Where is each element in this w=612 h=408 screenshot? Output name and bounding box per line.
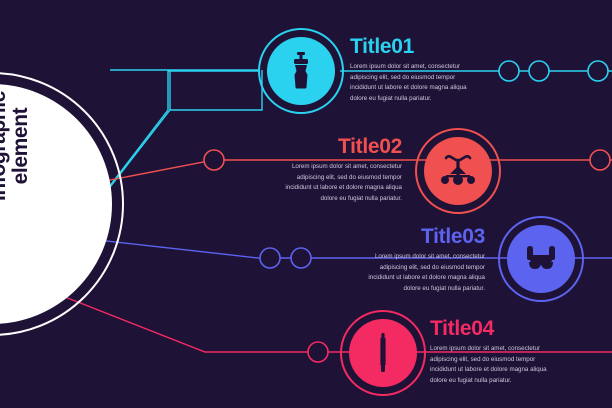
text-block-item-02: Title02 Lorem ipsum dolor sit amet, cons… bbox=[282, 136, 402, 205]
icon-circle-item-01[interactable] bbox=[258, 28, 344, 114]
text-block-item-04: Title04 Lorem ipsum dolor sit amet, cons… bbox=[430, 318, 550, 387]
body-item-02: Lorem ipsum dolor sit amet, consectetur … bbox=[282, 162, 402, 205]
body-item-03: Lorem ipsum dolor sit amet, consectetur … bbox=[365, 252, 485, 295]
body-item-04: Lorem ipsum dolor sit amet, consectetur … bbox=[430, 344, 550, 387]
center-label-line2: element bbox=[10, 66, 32, 226]
title-item-01: Title01 bbox=[350, 36, 470, 57]
body-item-01: Lorem ipsum dolor sit amet, consectetur … bbox=[350, 62, 470, 105]
icon-circle-item-04[interactable] bbox=[340, 310, 426, 396]
title-item-04: Title04 bbox=[430, 318, 550, 339]
title-item-03: Title03 bbox=[365, 226, 485, 247]
swim-goggles-icon bbox=[522, 244, 560, 274]
title-item-02: Title02 bbox=[282, 136, 402, 157]
thermometer-icon bbox=[377, 333, 389, 373]
text-block-item-01: Title01 Lorem ipsum dolor sit amet, cons… bbox=[350, 36, 470, 105]
icon-circle-item-02[interactable] bbox=[415, 128, 501, 214]
text-block-item-03: Title03 Lorem ipsum dolor sit amet, cons… bbox=[365, 226, 485, 295]
icon-circle-item-03[interactable] bbox=[498, 216, 584, 302]
center-label: Infographic element bbox=[0, 66, 32, 226]
water-bottle-icon bbox=[288, 52, 314, 90]
infographic-canvas: Infographic element Title01 Lorem ipsum … bbox=[0, 0, 612, 408]
tricycle-icon bbox=[438, 154, 478, 188]
